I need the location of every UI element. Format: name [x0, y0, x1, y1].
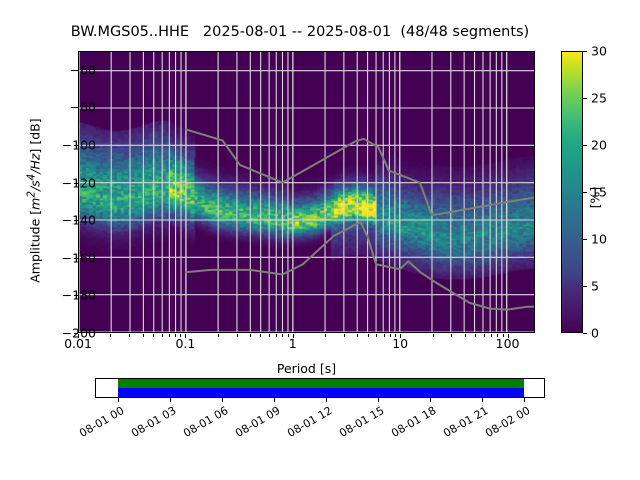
y-axis-tick-label: −100 [62, 138, 96, 153]
timeline-segment-blue [118, 388, 524, 397]
x-axis-minor-tick [390, 334, 391, 337]
x-axis-minor-tick [344, 334, 345, 337]
timeline-segment-green [118, 379, 524, 388]
x-axis-minor-tick [282, 334, 283, 337]
colorbar-tick-label: 10 [591, 232, 607, 247]
timeline-tick-mark [482, 398, 483, 402]
x-axis-label: Period [s] [78, 361, 535, 376]
y-axis-tick-mark [74, 295, 78, 296]
x-axis-minor-tick [143, 334, 144, 337]
colorbar-tick-label: 25 [591, 91, 607, 106]
timeline-tick-mark [378, 398, 379, 402]
colorbar-tick-label: 20 [591, 138, 607, 153]
x-axis-minor-tick [451, 334, 452, 337]
colorbar [561, 51, 583, 333]
colorbar-label: [%] [588, 168, 603, 228]
colorbar-tick-mark [583, 145, 587, 146]
x-axis-minor-tick [325, 334, 326, 337]
y-axis-tick-mark [74, 145, 78, 146]
timeline-tick-label: 08-01 18 [382, 404, 439, 444]
x-axis-minor-tick [218, 334, 219, 337]
y-axis-tick-mark [74, 107, 78, 108]
x-axis-minor-tick [376, 334, 377, 337]
timeline-tick-mark [222, 398, 223, 402]
x-axis-minor-tick [475, 334, 476, 337]
timeline-tick-mark [118, 398, 119, 402]
colorbar-tick-label: 30 [591, 44, 607, 59]
y-axis-tick-label: −160 [62, 250, 96, 265]
x-axis-minor-tick [368, 334, 369, 337]
colorbar-tick-mark [583, 98, 587, 99]
colorbar-tick-mark [583, 333, 587, 334]
x-axis-minor-tick [484, 334, 485, 337]
x-axis-minor-tick [169, 334, 170, 337]
y-axis-tick-mark [74, 258, 78, 259]
x-axis-tick-label: 10 [392, 336, 408, 351]
x-axis-minor-tick [491, 334, 492, 337]
colorbar-tick-mark [583, 51, 587, 52]
timeline-tick-mark [430, 398, 431, 402]
figure-canvas: BW.MGS05..HHE 2025-08-01 -- 2025-08-01 (… [0, 0, 640, 480]
x-axis-minor-tick [260, 334, 261, 337]
timeline-tick-label: 08-01 06 [174, 404, 231, 444]
x-axis-minor-tick [250, 334, 251, 337]
timeline-tick-label: 08-01 12 [278, 404, 335, 444]
data-coverage-timeline [95, 378, 545, 398]
colorbar-tick-label: 5 [591, 279, 599, 294]
y-axis-label: Amplitude [m2/s4/Hz] [dB] [25, 71, 42, 331]
timeline-tick-label: 08-01 03 [122, 404, 179, 444]
timeline-tick-label: 08-01 00 [70, 404, 127, 444]
x-axis-minor-tick [129, 334, 130, 337]
y-axis-tick-label: −180 [62, 288, 96, 303]
colorbar-tick-mark [583, 192, 587, 193]
x-axis-minor-tick [237, 334, 238, 337]
colorbar-tick-mark [583, 239, 587, 240]
x-axis-minor-tick [276, 334, 277, 337]
x-axis-minor-tick [465, 334, 466, 337]
x-axis-minor-tick [269, 334, 270, 337]
timeline-tick-mark [326, 398, 327, 402]
x-axis-minor-tick [357, 334, 358, 337]
timeline-tick-label: 08-01 09 [226, 404, 283, 444]
timeline-tick-mark [524, 398, 525, 402]
colorbar-tick-mark [583, 286, 587, 287]
x-axis-minor-tick [162, 334, 163, 337]
peterson-noise-model-curves [79, 52, 534, 332]
x-axis-minor-tick [110, 334, 111, 337]
x-axis-minor-tick [153, 334, 154, 337]
y-axis-tick-mark [74, 220, 78, 221]
x-axis-tick-label: 0.01 [64, 336, 92, 351]
x-axis-tick-label: 1 [289, 336, 297, 351]
page-title: BW.MGS05..HHE 2025-08-01 -- 2025-08-01 (… [0, 24, 600, 40]
timeline-tick-mark [170, 398, 171, 402]
x-axis-minor-tick [433, 334, 434, 337]
y-axis-tick-label: −120 [62, 175, 96, 190]
x-axis-tick-label: 0.1 [175, 336, 195, 351]
timeline-tick-mark [274, 398, 275, 402]
timeline-tick-label: 08-01 15 [330, 404, 387, 444]
y-axis-tick-label: −140 [62, 213, 96, 228]
x-axis-tick-label: 100 [496, 336, 520, 351]
x-axis-minor-tick [384, 334, 385, 337]
ppsd-plot-area [78, 51, 535, 333]
colorbar-tick-label: 0 [591, 326, 599, 341]
y-axis-tick-mark [74, 183, 78, 184]
y-axis-tick-mark [74, 70, 78, 71]
